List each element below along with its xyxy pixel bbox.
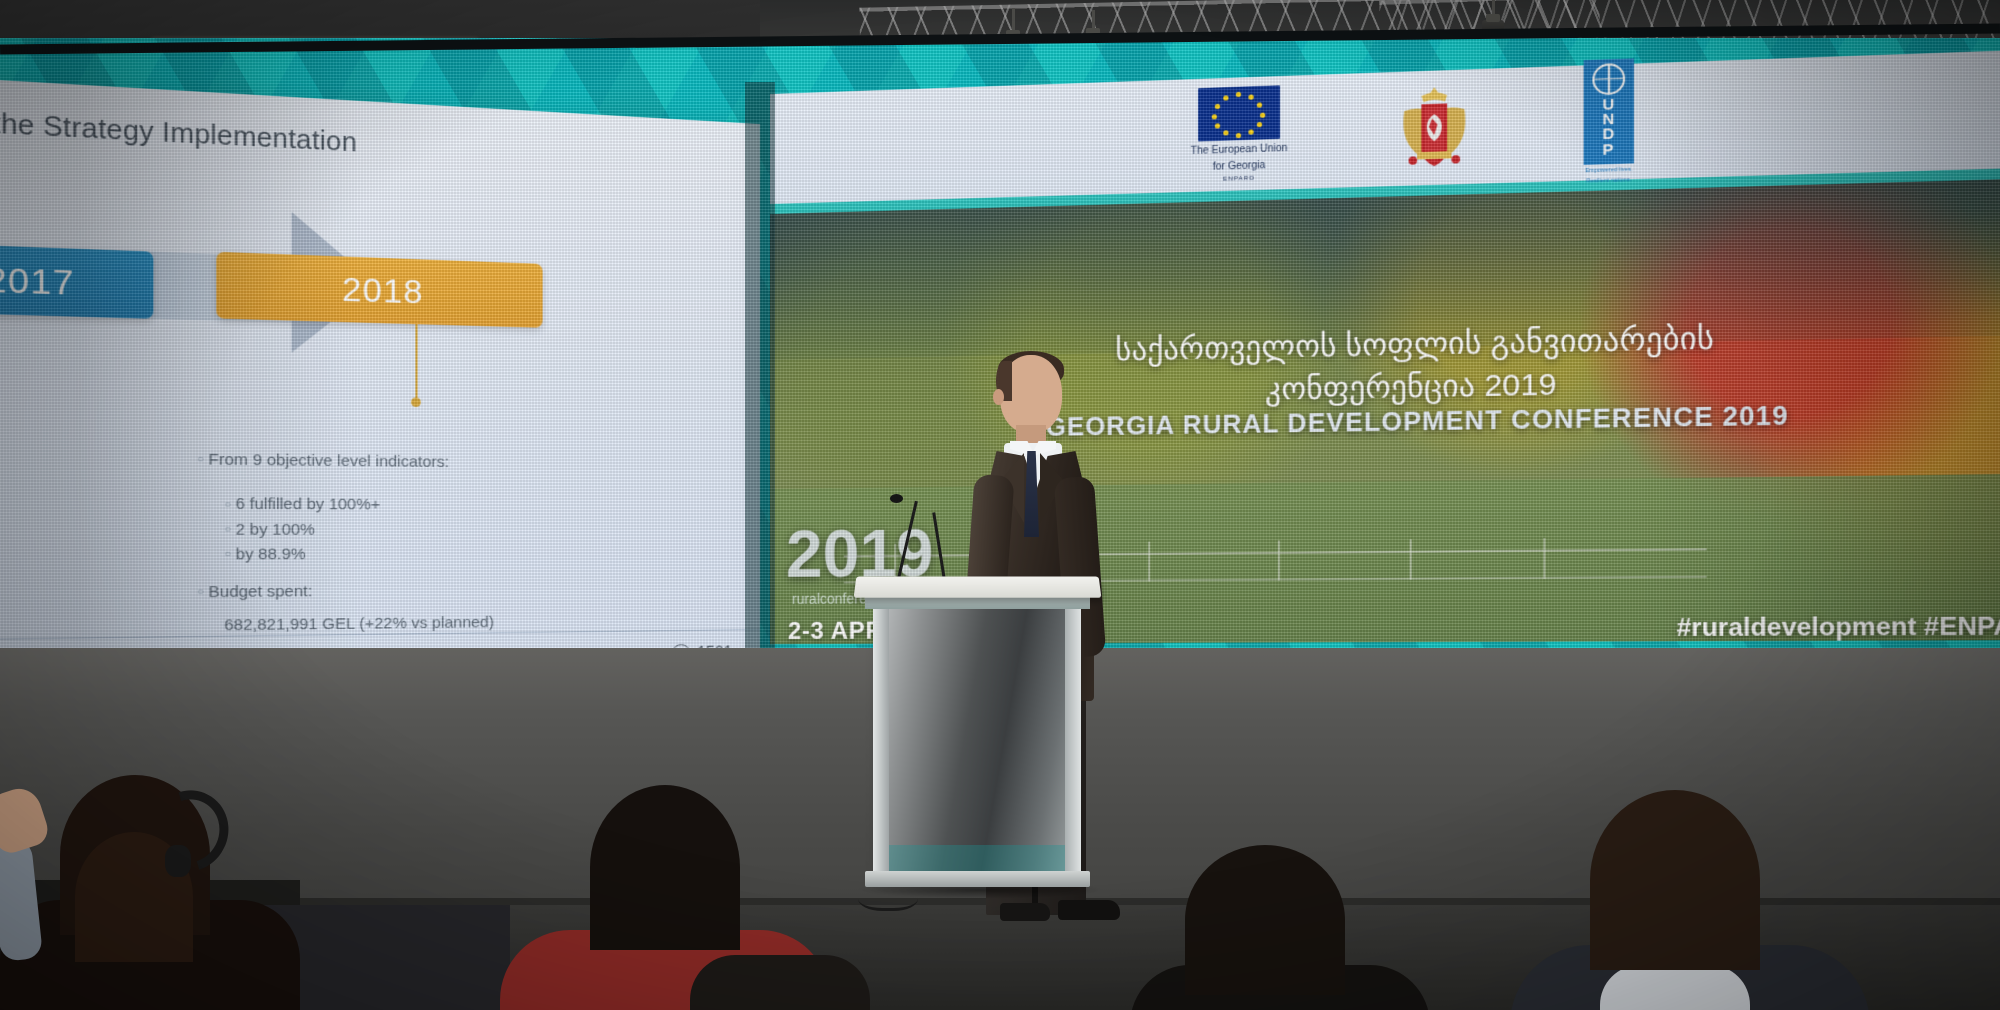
undp-caption-line1: Empowered lives.	[1585, 167, 1633, 176]
eu-flag-logo: The European Union for Georgia ENPARD	[1191, 85, 1288, 184]
podium-cable	[858, 880, 918, 911]
bullet-icon: ○	[197, 454, 204, 466]
podium-top-surface	[854, 577, 1102, 598]
left-slide-title: ults of the Strategy Implementation	[0, 103, 357, 158]
undp-letters: UNDP	[1602, 97, 1615, 158]
podium-rail-right	[1065, 605, 1081, 877]
photo-fence-post	[1543, 538, 1545, 578]
audience-head	[590, 785, 740, 950]
photo-fence-post	[1148, 542, 1150, 582]
year-tag-2018-label: 2018	[342, 270, 424, 312]
eu-flag-icon	[1198, 85, 1280, 141]
audience-shirt-collar	[1600, 965, 1750, 1010]
speaker-ear	[993, 389, 1004, 405]
year-tag-2017: 2017	[0, 238, 153, 319]
audience-head	[1185, 845, 1345, 995]
headset-earpad	[165, 845, 191, 877]
bullet-icon: ○	[197, 587, 204, 599]
audience-head-distant	[690, 955, 870, 1010]
conference-photo: ults of the Strategy Implementation 2017…	[0, 0, 2000, 1010]
bullet-icon: ○	[224, 524, 231, 536]
microphone-head-icon	[890, 494, 903, 503]
podium-body-panel	[881, 609, 1071, 871]
podium-lip	[865, 597, 1090, 609]
conference-hashtags: #ruraldevelopment #ENPARD	[1677, 612, 2000, 643]
eu-logo-caption-line2: for Georgia	[1213, 160, 1266, 174]
column-2017-budget-value: EL (+38.3% vs planned)	[0, 602, 176, 632]
eu-logo-caption-line3: ENPARD	[1223, 175, 1255, 182]
led-wall-panel-seam	[745, 82, 775, 698]
bullet-icon: ○	[224, 499, 231, 511]
podium	[855, 575, 1100, 925]
column-2017-item-3: lled.	[0, 542, 176, 569]
left-slide-column-2017: r level indicators: d by 100% or 100%+; …	[0, 442, 176, 631]
left-presentation-slide: ults of the Strategy Implementation 2017…	[0, 73, 760, 690]
column-2017-item-1: d by 100% or 100%+;	[0, 489, 176, 517]
undp-caption-line2: Resilient nations.	[1586, 177, 1632, 186]
column-2018-item-1: ○6 fulfilled by 100%+	[197, 492, 556, 518]
column-2017-heading: r level indicators:	[0, 442, 176, 472]
eu-logo-caption-line1: The European Union	[1191, 142, 1288, 158]
undp-logo: UNDP Empowered lives. Resilient nations.	[1584, 58, 1634, 186]
podium-teal-band	[881, 845, 1071, 871]
photo-fence-post	[1410, 539, 1412, 579]
audience-head	[1590, 790, 1760, 970]
undp-globe-icon	[1593, 62, 1626, 95]
undp-logo-box: UNDP	[1584, 58, 1634, 165]
column-2018-item-2: ○2 by 100%	[197, 517, 556, 542]
column-2018-heading: ○From 9 objective level indicators:	[197, 447, 556, 475]
georgia-coat-of-arms-logo	[1389, 82, 1479, 174]
connector-dot-2018	[411, 397, 421, 407]
connector-line-2018	[415, 324, 417, 399]
podium-rail-left	[873, 605, 889, 877]
left-slide-column-2018: ○From 9 objective level indicators: ○6 f…	[197, 447, 556, 638]
year-tag-2017-label: 2017	[0, 259, 75, 303]
bullet-icon: ○	[224, 549, 231, 561]
column-2017-item-2: d partially;	[0, 516, 176, 542]
column-2018-item-3: ○by 88.9%	[197, 542, 556, 567]
year-tag-2018: 2018	[216, 252, 542, 328]
photo-fence-post	[1278, 541, 1280, 581]
column-2018-budget-label: ○Budget spent:	[197, 578, 556, 605]
